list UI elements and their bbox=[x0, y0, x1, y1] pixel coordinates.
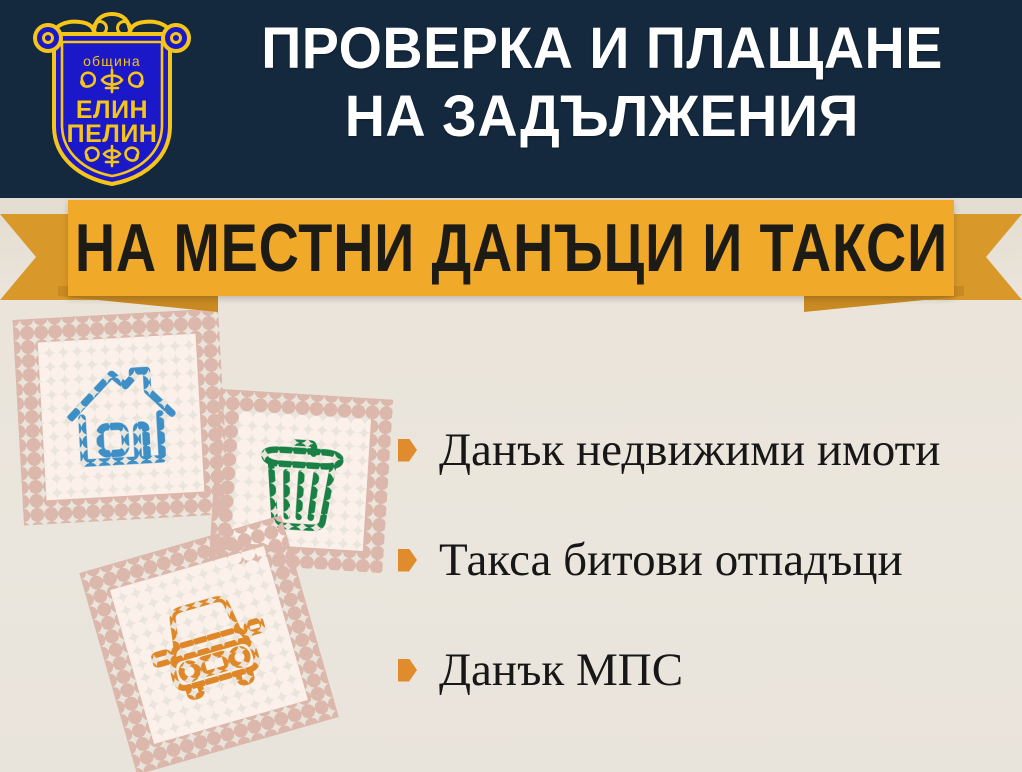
arrow-bullet-icon bbox=[398, 439, 417, 462]
tax-type-list: Данък недвижими имоти Такса битови отпад… bbox=[398, 424, 1010, 696]
stamp-card-property bbox=[12, 308, 229, 525]
list-item: Такса битови отпадъци bbox=[398, 534, 1010, 586]
subtitle-ribbon: НА МЕСТНИ ДАНЪЦИ И ТАКСИ bbox=[0, 196, 1022, 316]
poster-canvas: община ЕЛИН ПЕЛИН bbox=[0, 0, 1022, 772]
ribbon-band: НА МЕСТНИ ДАНЪЦИ И ТАКСИ bbox=[68, 200, 954, 296]
title-line-2: НА ЗАДЪЛЖЕНИЯ bbox=[345, 82, 859, 152]
crest-municipality-word: община bbox=[83, 53, 141, 69]
trash-bin-icon bbox=[250, 428, 352, 534]
ribbon-text: НА МЕСТНИ ДАНЪЦИ И ТАКСИ bbox=[74, 214, 947, 282]
house-icon bbox=[62, 361, 180, 473]
tax-item-label: Данък недвижими имоти bbox=[439, 424, 940, 476]
tax-item-label: Данък МПС bbox=[439, 644, 683, 696]
tax-item-label: Такса битови отпадъци bbox=[439, 534, 903, 586]
list-item: Данък недвижими имоти bbox=[398, 424, 1010, 476]
stamp-paper bbox=[110, 546, 308, 744]
arrow-bullet-icon bbox=[398, 549, 417, 572]
title-line-1: ПРОВЕРКА И ПЛАЩАНЕ bbox=[261, 14, 943, 84]
page-title: ПРОВЕРКА И ПЛАЩАНЕ НА ЗАДЪЛЖЕНИЯ bbox=[196, 14, 1008, 184]
header-bar: община ЕЛИН ПЕЛИН bbox=[0, 0, 1022, 198]
municipality-crest: община ЕЛИН ПЕЛИН bbox=[32, 8, 192, 190]
stamp-paper bbox=[38, 334, 205, 501]
crest-name-line2: ПЕЛИН bbox=[67, 120, 158, 148]
arrow-bullet-icon bbox=[398, 659, 417, 682]
list-item: Данък МПС bbox=[398, 644, 1010, 696]
car-icon bbox=[138, 580, 280, 711]
